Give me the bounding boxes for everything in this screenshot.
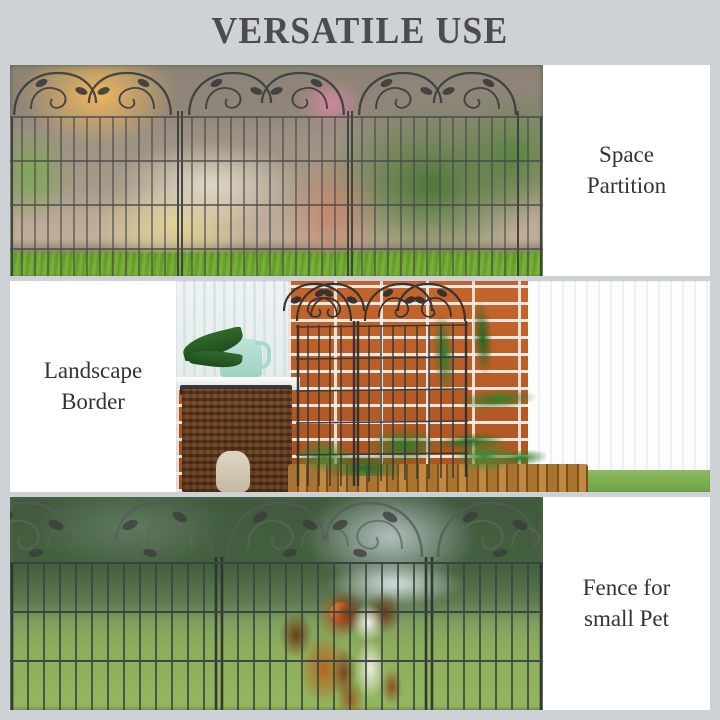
feature-panel-landscape-border: Landscape Border — [10, 281, 710, 492]
photo-inner-border — [176, 281, 710, 492]
photo-inner-border — [10, 497, 543, 710]
caption-space-partition: Space Partition — [543, 65, 710, 276]
photo-fence-for-small-pet — [10, 497, 543, 710]
feature-panel-space-partition: Space Partition — [10, 65, 710, 276]
caption-fence-for-small-pet: Fence for small Pet — [543, 497, 710, 710]
caption-landscape-border: Landscape Border — [10, 281, 176, 492]
page-title: VERSATILE USE — [212, 9, 509, 53]
product-feature-collage: VERSATILE USE — [0, 0, 720, 720]
feature-panel-fence-for-small-pet: Fence for small Pet — [10, 497, 710, 710]
photo-space-partition — [10, 65, 543, 276]
page-title-bar: VERSATILE USE — [0, 0, 720, 62]
photo-landscape-border — [176, 281, 710, 492]
photo-inner-border — [10, 65, 543, 276]
